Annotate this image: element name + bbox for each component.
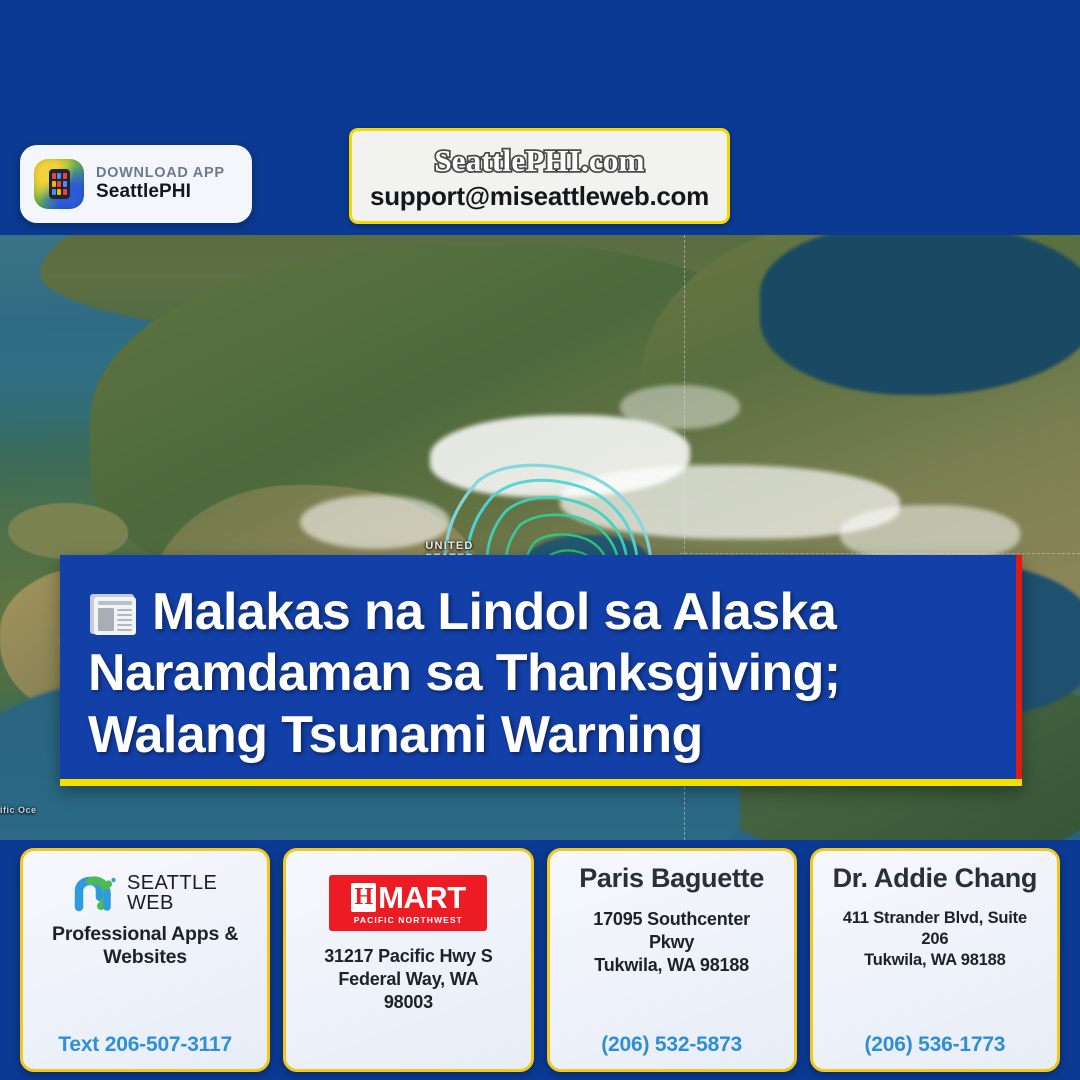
map-water-north-bay [760, 235, 1080, 395]
mi-monogram-icon [73, 873, 119, 913]
address-line-1: 411 Strander Blvd, Suite [843, 909, 1027, 927]
logo-line-web: WEB [127, 892, 174, 914]
download-app-text: DOWNLOAD APP SeattlePHI [96, 165, 225, 204]
logo-line-seattle: SEATTLE [127, 872, 217, 894]
headline-text: Malakas na Lindol sa Alaska Naramdaman s… [88, 583, 840, 764]
sponsor-card-dr-addie-chang[interactable]: Dr. Addie Chang 411 Strander Blvd, Suite… [810, 848, 1060, 1072]
download-app-badge[interactable]: DOWNLOAD APP SeattlePHI [20, 145, 252, 223]
download-app-kicker: DOWNLOAD APP [96, 165, 225, 182]
address-line-1: 31217 Pacific Hwy S [324, 946, 492, 966]
address-line-3: Tukwila, WA 98188 [594, 955, 749, 975]
sponsor-address: 31217 Pacific Hwy S Federal Way, WA 9800… [324, 945, 492, 1014]
sponsor-address: 411 Strander Blvd, Suite 206 Tukwila, WA… [843, 908, 1027, 971]
hmart-wordmark: HMART [351, 882, 466, 913]
hmart-subtitle: PACIFIC NORTHWEST [354, 915, 463, 925]
sponsor-card-h-mart[interactable]: HMART PACIFIC NORTHWEST 31217 Pacific Hw… [283, 848, 533, 1072]
sponsor-card-paris-baguette[interactable]: Paris Baguette 17095 Southcenter Pkwy Tu… [547, 848, 797, 1072]
website-label[interactable]: SeattlePHI.com [434, 145, 644, 176]
address-line-3: Tukwila, WA 98188 [864, 951, 1006, 969]
headline-inner: Malakas na Lindol sa Alaska Naramdaman s… [60, 555, 1022, 766]
app-grid-phone-icon [34, 159, 84, 209]
sponsor-phone[interactable]: (206) 536-1773 [864, 1023, 1005, 1057]
headline-banner[interactable]: Malakas na Lindol sa Alaska Naramdaman s… [60, 555, 1022, 786]
sponsor-phone[interactable]: (206) 532-5873 [601, 1023, 742, 1057]
mi-seattle-web-logo: SEATTLE WEB [73, 873, 217, 913]
address-line-2: Pkwy [649, 932, 694, 952]
top-bar: DOWNLOAD APP SeattlePHI SeattlePHI.com s… [0, 0, 1080, 235]
address-line-2: Federal Way, WA [338, 969, 478, 989]
map-island-2 [8, 503, 128, 559]
newspaper-icon [88, 592, 138, 636]
hmart-mart-text: MART [378, 882, 466, 913]
sponsor-card-mi-seattle-web[interactable]: SEATTLE WEB Professional Apps & Websites… [20, 848, 270, 1072]
sponsor-card-row: SEATTLE WEB Professional Apps & Websites… [0, 840, 1080, 1080]
email-label[interactable]: support@miseattleweb.com [370, 183, 709, 209]
phone-glyph [49, 169, 70, 199]
mi-seattle-web-wordmark: SEATTLE WEB [127, 873, 217, 913]
sponsor-title: Paris Baguette [579, 863, 764, 894]
sponsor-title: Dr. Addie Chang [833, 863, 1038, 894]
contact-box[interactable]: SeattlePHI.com support@miseattleweb.com [349, 128, 730, 224]
news-poster: UNITED STATES Alaska Yukon Bering Sea if… [0, 0, 1080, 1080]
download-app-name: SeattlePHI [96, 181, 225, 203]
address-line-2: 206 [921, 930, 948, 948]
sponsor-phone[interactable]: Text 206-507-3117 [58, 1023, 232, 1057]
map-border-line-horizontal [680, 553, 1080, 554]
hmart-h-letter: H [351, 883, 376, 912]
address-line-1: 17095 Southcenter [593, 909, 750, 929]
sponsor-address: 17095 Southcenter Pkwy Tukwila, WA 98188 [593, 908, 750, 977]
hmart-logo: HMART PACIFIC NORTHWEST [329, 875, 487, 931]
sponsor-tagline: Professional Apps & Websites [33, 923, 257, 970]
address-line-3: 98003 [384, 992, 433, 1012]
